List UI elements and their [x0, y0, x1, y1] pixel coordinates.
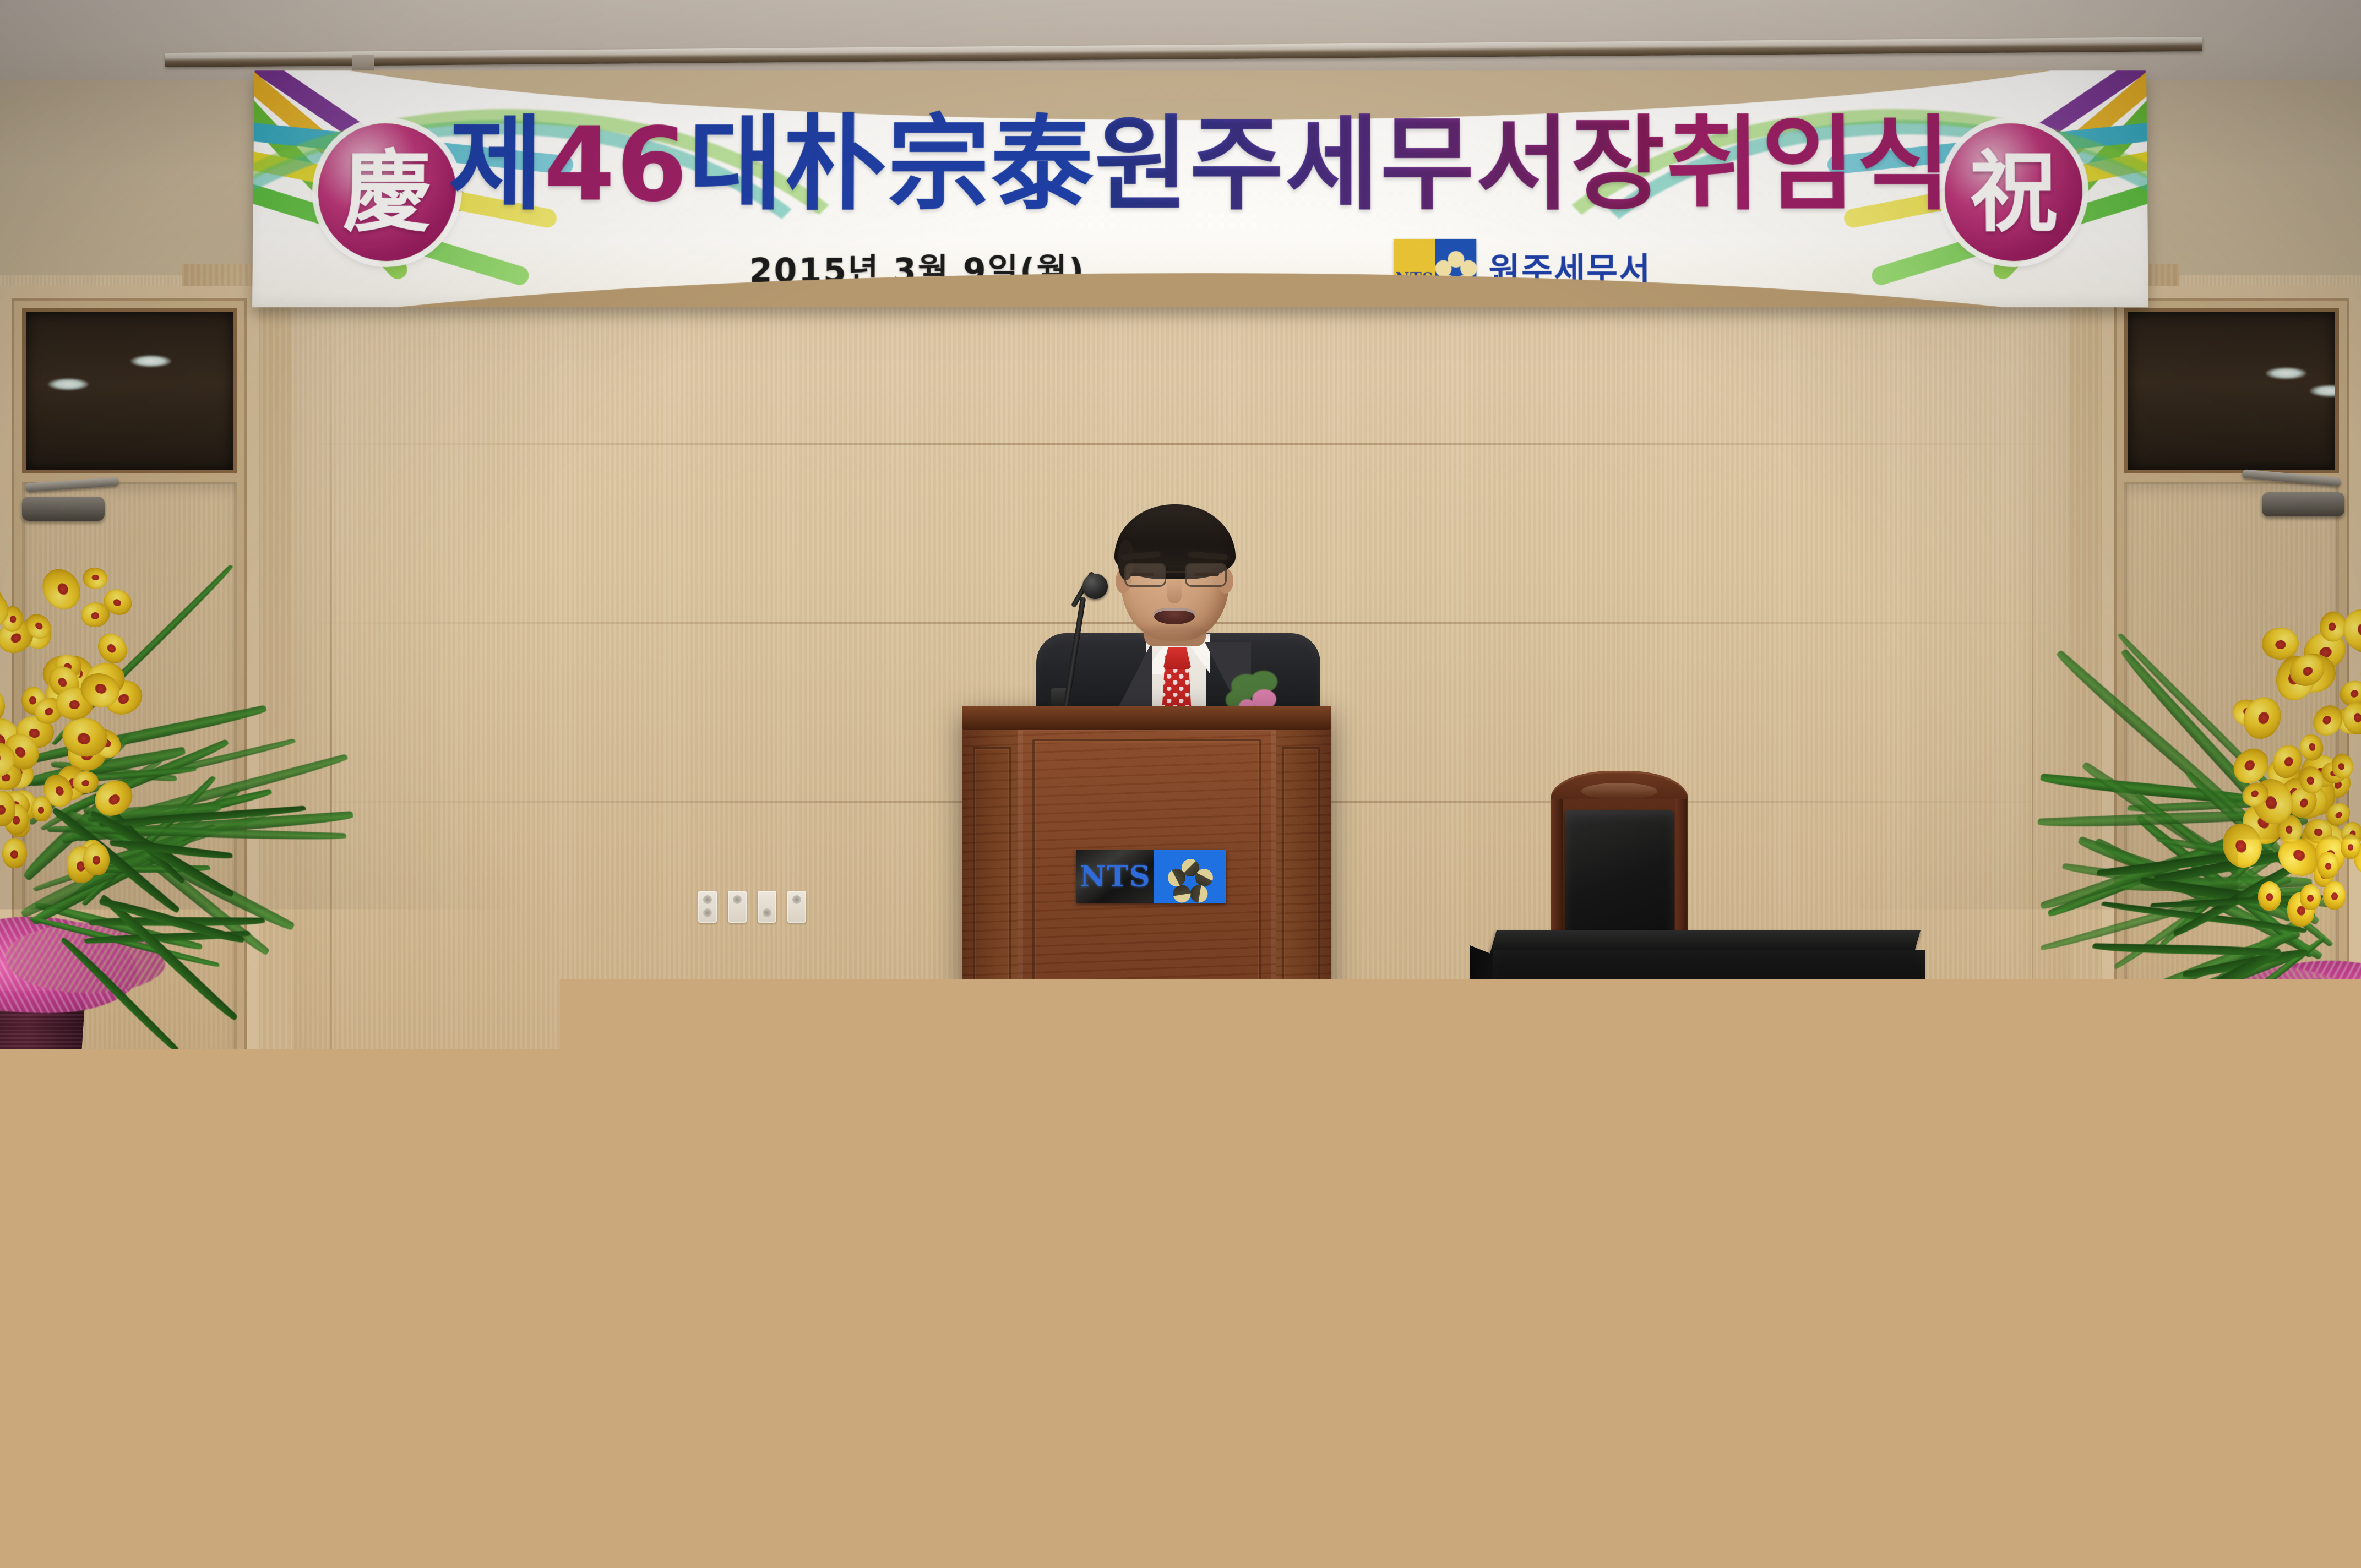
plaque-wordmark-panel: NTS — [1076, 850, 1154, 903]
podium-nts-plaque: NTS — [1076, 850, 1226, 903]
orchid-bud — [2300, 884, 2321, 910]
podium-panel — [1282, 747, 1320, 1170]
stage-front-edge — [0, 1266, 2361, 1303]
transom-window — [2124, 308, 2339, 473]
orchid-arrangement-left — [0, 556, 325, 1151]
orchid-bud — [83, 843, 110, 875]
podium-base — [959, 1191, 1335, 1234]
wall-outlet-group — [698, 891, 806, 923]
hall-floor — [0, 1409, 2361, 1568]
microphone-head-icon — [1082, 574, 1108, 599]
orchid-bloom — [93, 628, 133, 669]
banner-title-segment-3: 朴宗泰 — [784, 113, 1094, 216]
jack-outlet-icon — [787, 891, 806, 923]
jack-outlet-icon — [728, 891, 747, 923]
banner-title-segment-4: 원주세무서장 — [1094, 113, 1666, 216]
step-box-top — [0, 1307, 242, 1326]
orchid-bud — [2258, 881, 2281, 911]
door-closer-body — [2262, 492, 2344, 516]
nts-flower-emblem-icon — [1169, 855, 1212, 898]
wall-corner-line — [2032, 300, 2033, 1225]
badge-left-character: 慶 — [342, 148, 431, 236]
podium-left-wing — [962, 728, 1022, 1195]
orchid-bud — [2341, 834, 2360, 859]
ceiling-light-reflection — [130, 355, 171, 367]
transom-window — [22, 308, 237, 473]
podium-panel — [973, 747, 1011, 1170]
banner-title-segment-0: 제 — [448, 113, 544, 216]
table-fringe-strands — [1469, 1103, 1930, 1125]
podium-right-wing — [1271, 728, 1331, 1195]
stage-riser-face — [0, 1298, 2361, 1419]
banner-title-segment-2: 대 — [688, 113, 784, 216]
ceiling-light-reflection — [2266, 367, 2306, 379]
eye — [1130, 573, 1154, 576]
eye — [1195, 573, 1219, 576]
ceremony-banner: 慶 祝 제46대 朴宗泰 원주세무서장 취임식 2015년 3월 9일(월) N… — [252, 70, 2148, 307]
badge-right-character: 祝 — [1969, 148, 2058, 236]
ceiling-light-reflection — [48, 378, 89, 390]
plaque-nts-text: NTS — [1080, 860, 1151, 894]
power-outlet-icon — [698, 891, 717, 923]
glasses-bridge — [1166, 571, 1185, 573]
flower-pot — [0, 991, 94, 1151]
podium-front-panel — [1032, 739, 1261, 1176]
plaque-emblem-panel — [1154, 850, 1226, 903]
orchid-bud — [2, 838, 26, 868]
podium-top-rail — [962, 706, 1331, 730]
podium: NTS — [966, 706, 1327, 1234]
jack-outlet-icon — [758, 891, 776, 923]
banner-title-segment-1: 46 — [543, 113, 689, 216]
door-closer-body — [22, 497, 105, 521]
orchid-bud — [31, 796, 52, 821]
orchid-bud — [2323, 881, 2346, 910]
wall-seam — [300, 443, 2062, 445]
orchid-arrangement-right — [2036, 600, 2361, 1195]
table-cloth — [1493, 950, 1925, 1080]
photograph-scene: 慶 祝 제46대 朴宗泰 원주세무서장 취임식 2015년 3월 9일(월) N… — [0, 0, 2361, 1568]
floor-outlet-plate — [339, 1104, 416, 1115]
orchid-bud — [2317, 852, 2339, 879]
banner-title-segment-5: 취임식 — [1666, 113, 1952, 216]
chin-shadow — [1140, 625, 1210, 640]
orchid-bloom — [35, 562, 88, 617]
speaker-person — [1063, 496, 1294, 727]
podium-front-face — [1018, 726, 1276, 1195]
orchid-bloom — [82, 567, 108, 590]
banner-title: 제46대 朴宗泰 원주세무서장 취임식 — [489, 96, 1911, 233]
nose — [1167, 578, 1182, 603]
flower-pot — [2267, 1035, 2361, 1195]
mouth — [1154, 608, 1195, 624]
ceiling-light-reflection — [2310, 385, 2339, 397]
draped-table — [1497, 930, 1921, 1107]
badge-congratulation: 祝 — [1944, 123, 2083, 261]
